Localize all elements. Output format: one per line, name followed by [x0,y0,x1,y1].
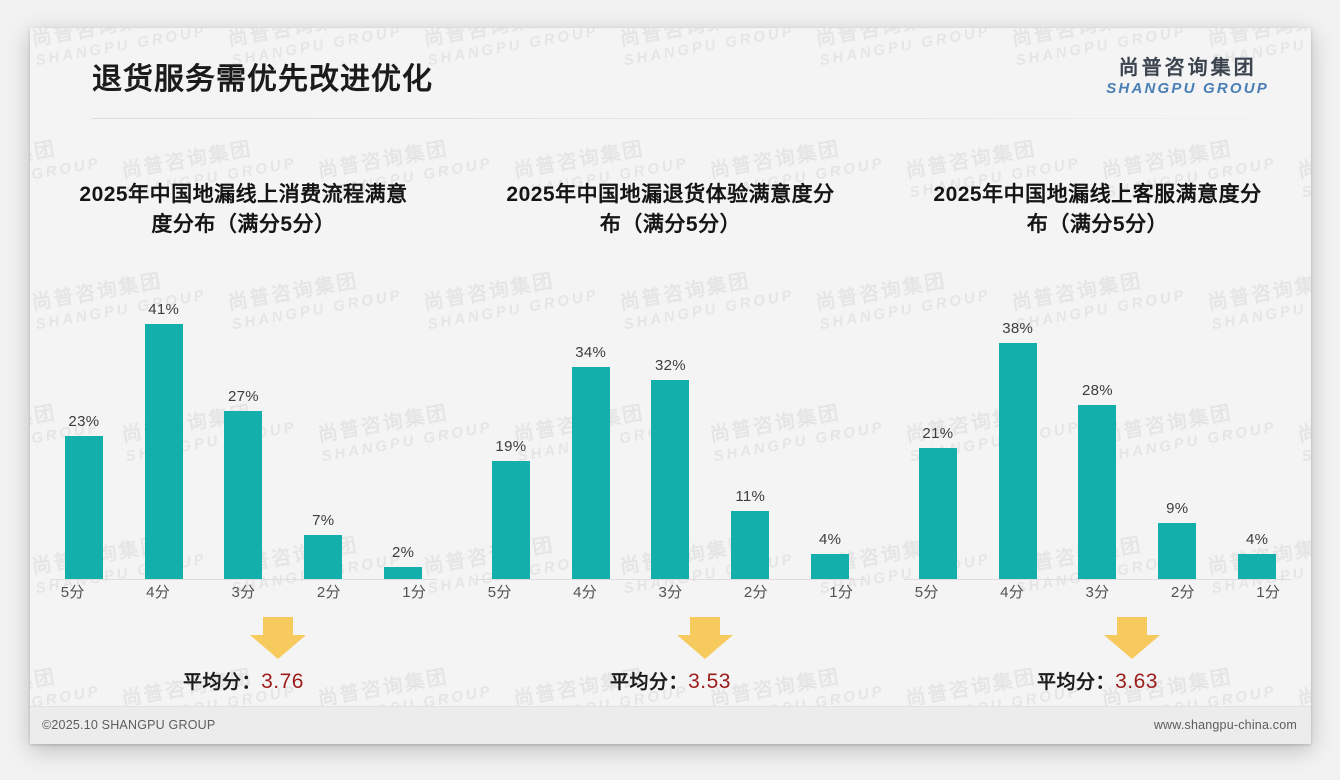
bar[interactable] [384,567,422,579]
bar-value-label: 38% [1002,320,1033,337]
bar[interactable] [1158,523,1196,579]
x-axis-tick-label: 5分 [462,581,538,602]
arrow-container [898,617,1297,659]
bar-slot[interactable]: 38% [980,300,1056,579]
plot-area: 23%41%27%7%2% [44,300,443,580]
x-axis-tick-label: 4分 [120,581,196,602]
bar-value-label: 2% [392,544,414,561]
bar-slot[interactable]: 32% [632,300,708,579]
bar[interactable] [572,367,610,579]
bar-group: 19%34%32%11%4% [471,300,870,579]
arrow-head [250,635,306,659]
charts-row: 2025年中国地漏线上消费流程满意度分布（满分5分）23%41%27%7%2%5… [30,148,1311,673]
bar-value-label: 4% [1246,531,1268,548]
bar-value-label: 7% [312,512,334,529]
bar-slot[interactable]: 21% [900,300,976,579]
chart-panel-1: 2025年中国地漏线上消费流程满意度分布（满分5分）23%41%27%7%2%5… [30,148,457,673]
x-axis-line [50,579,437,580]
bar[interactable] [651,380,689,579]
bar-value-label: 11% [735,488,765,505]
x-axis-tick-label: 3分 [205,581,281,602]
arrow-container [471,617,870,659]
arrow-stem [263,617,293,637]
slide-footer: ©2025.10 SHANGPU GROUP www.shangpu-china… [30,706,1311,744]
x-axis-tick-label: 4分 [974,581,1050,602]
bar-slot[interactable]: 28% [1059,300,1135,579]
x-axis-tick-label: 3分 [632,581,708,602]
bar-slot[interactable]: 2% [365,300,441,579]
x-axis-line [477,579,864,580]
average-score: 平均分：3.63 [898,667,1297,694]
bar[interactable] [1238,554,1276,579]
average-score: 平均分：3.76 [44,667,443,694]
bar[interactable] [919,448,957,579]
bar-value-label: 34% [575,344,606,361]
average-score-label: 平均分： [1037,672,1115,693]
bar-value-label: 9% [1166,500,1188,517]
down-arrow-icon [677,617,733,659]
footer-website[interactable]: www.shangpu-china.com [1154,718,1297,732]
bar[interactable] [145,324,183,579]
x-axis-tick-labels: 5分4分3分2分1分 [457,581,884,602]
bar-group: 23%41%27%7%2% [44,300,443,579]
bar-slot[interactable]: 4% [792,300,868,579]
x-axis-tick-label: 5分 [889,581,965,602]
logo-english-text: SHANGPU GROUP [1106,80,1269,98]
bar-slot[interactable]: 23% [46,300,122,579]
average-score-value: 3.63 [1115,670,1158,693]
arrow-stem [1117,617,1147,637]
down-arrow-icon [1104,617,1160,659]
logo-chinese-text: 尚普咨询集团 [1106,56,1269,80]
bar[interactable] [811,554,849,579]
average-score: 平均分：3.53 [471,667,870,694]
average-score-value: 3.76 [261,670,304,693]
bar-slot[interactable]: 34% [553,300,629,579]
x-axis-tick-label: 2分 [291,581,367,602]
bar-slot[interactable]: 41% [126,300,202,579]
page-title: 退货服务需优先改进优化 [92,54,433,98]
bar[interactable] [304,535,342,579]
x-axis-tick-labels: 5分4分3分2分1分 [884,581,1311,602]
arrow-container [44,617,443,659]
bar-value-label: 23% [68,413,99,430]
plot-area: 19%34%32%11%4% [471,300,870,580]
bar-value-label: 21% [922,425,953,442]
x-axis-tick-label: 3分 [1059,581,1135,602]
slide-header: 退货服务需优先改进优化 尚普咨询集团 SHANGPU GROUP [30,28,1311,120]
brand-logo: 尚普咨询集团 SHANGPU GROUP [1106,56,1269,98]
chart-title: 2025年中国地漏线上消费流程满意度分布（满分5分） [71,180,416,240]
x-axis-tick-label: 1分 [803,581,879,602]
x-axis-tick-label: 2分 [1145,581,1221,602]
bar-value-label: 4% [819,531,841,548]
chart-panel-3: 2025年中国地漏线上客服满意度分布（满分5分）21%38%28%9%4%5分4… [884,148,1311,673]
bar-slot[interactable]: 4% [1219,300,1295,579]
bar-value-label: 27% [228,388,259,405]
arrow-head [1104,635,1160,659]
x-axis-tick-label: 4分 [547,581,623,602]
bar[interactable] [999,343,1037,579]
plot-area: 21%38%28%9%4% [898,300,1297,580]
down-arrow-icon [250,617,306,659]
bar-value-label: 41% [148,301,179,318]
chart-panel-2: 2025年中国地漏退货体验满意度分布（满分5分）19%34%32%11%4%5分… [457,148,884,673]
x-axis-tick-label: 2分 [718,581,794,602]
average-score-label: 平均分： [183,672,261,693]
bar-value-label: 19% [495,438,526,455]
bar[interactable] [492,461,530,579]
bar[interactable] [65,436,103,579]
bar-value-label: 28% [1082,382,1113,399]
x-axis-tick-label: 1分 [376,581,452,602]
bar[interactable] [224,411,262,579]
bar-slot[interactable]: 19% [473,300,549,579]
header-divider [92,118,1252,119]
bar[interactable] [731,511,769,579]
chart-title: 2025年中国地漏线上客服满意度分布（满分5分） [925,180,1270,240]
bar-slot[interactable]: 27% [205,300,281,579]
average-score-value: 3.53 [688,670,731,693]
average-score-label: 平均分： [610,672,688,693]
chart-title: 2025年中国地漏退货体验满意度分布（满分5分） [498,180,843,240]
bar-slot[interactable]: 11% [712,300,788,579]
bar-value-label: 32% [655,357,686,374]
footer-copyright: ©2025.10 SHANGPU GROUP [42,718,215,732]
x-axis-tick-label: 5分 [35,581,111,602]
slide-canvas: 尚普咨询集团SHANGPU GROUP尚普咨询集团SHANGPU GROUP尚普… [30,28,1311,744]
arrow-stem [690,617,720,637]
bar-slot[interactable]: 9% [1139,300,1215,579]
bar[interactable] [1078,405,1116,579]
bar-group: 21%38%28%9%4% [898,300,1297,579]
x-axis-tick-labels: 5分4分3分2分1分 [30,581,457,602]
x-axis-tick-label: 1分 [1230,581,1306,602]
x-axis-line [904,579,1291,580]
arrow-head [677,635,733,659]
bar-slot[interactable]: 7% [285,300,361,579]
